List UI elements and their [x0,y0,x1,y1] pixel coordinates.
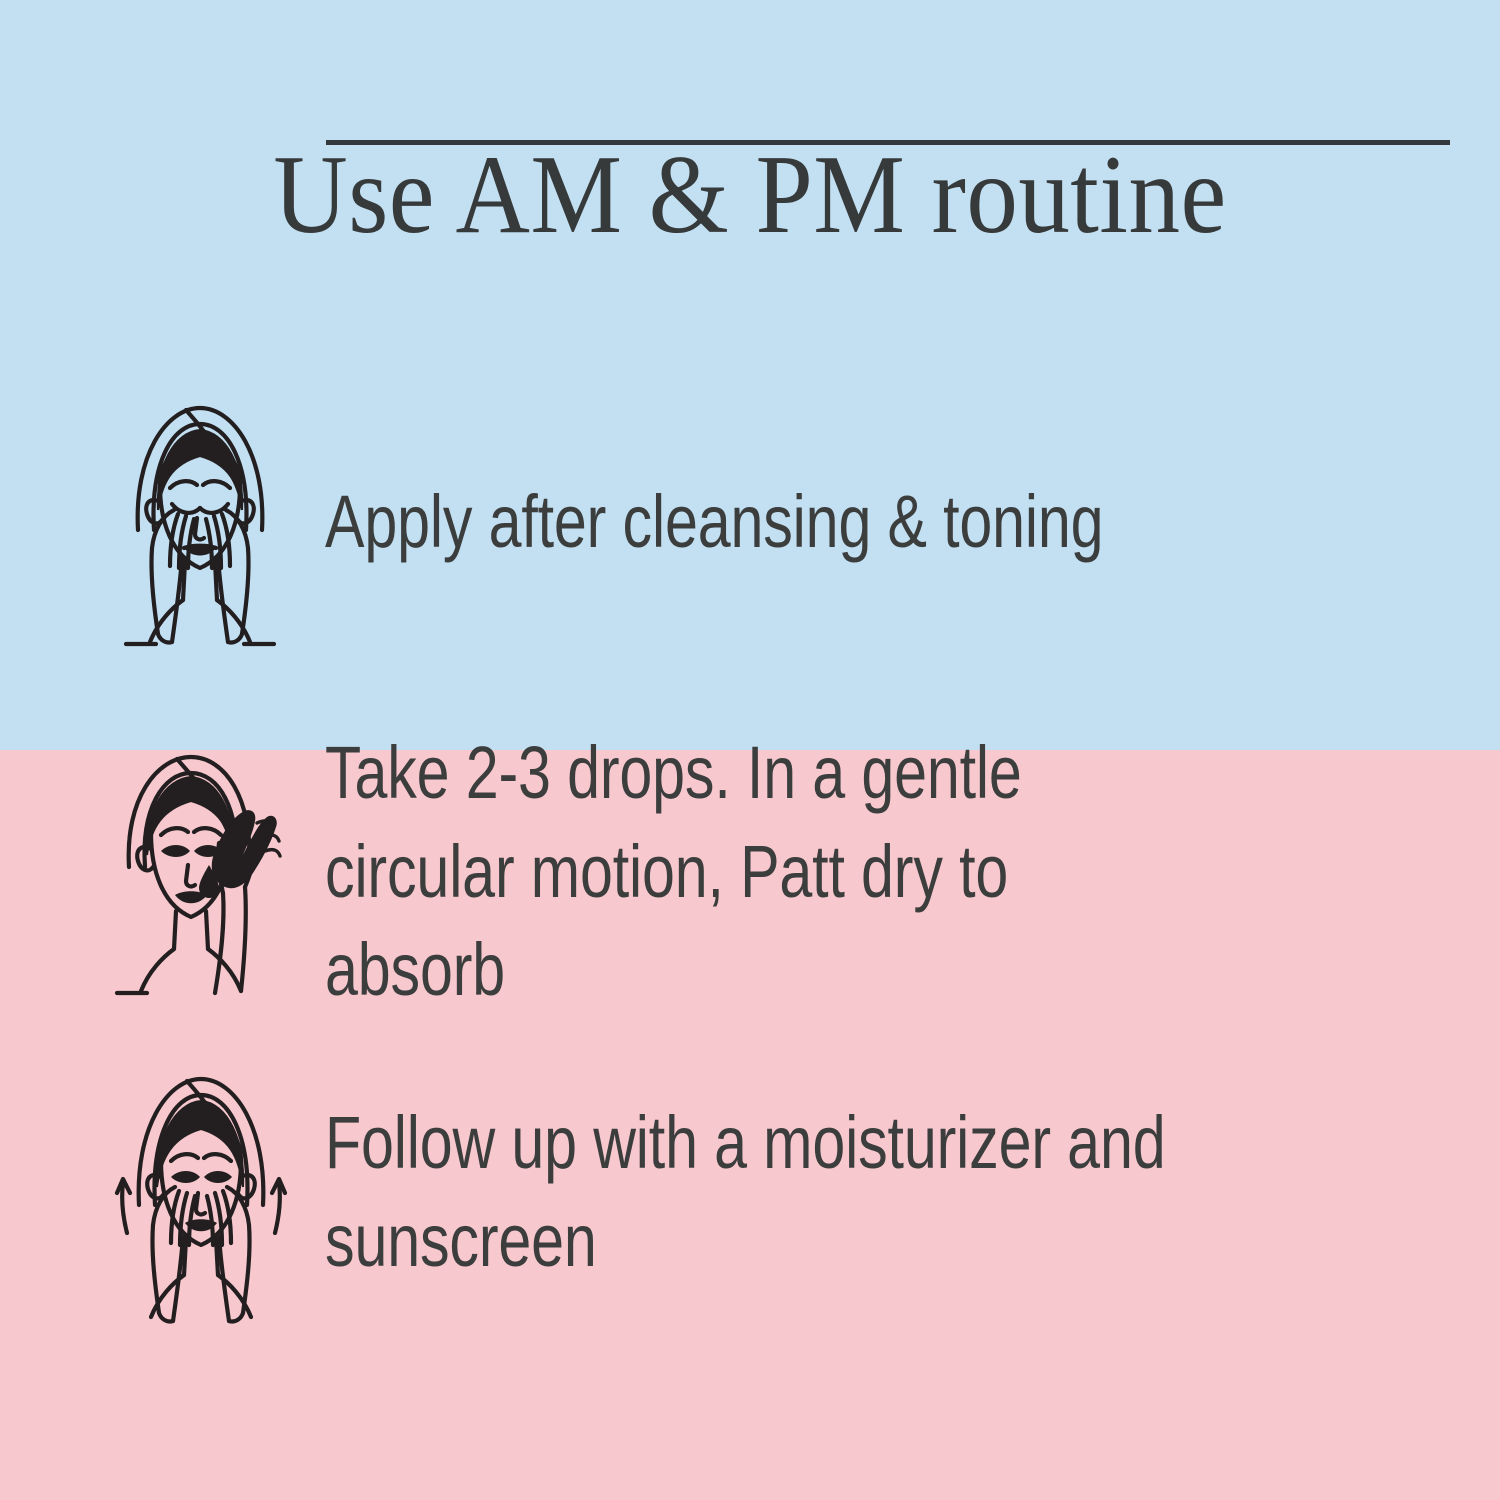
page-title: Use AM & PM routine [60,136,1440,255]
step-row-1: Apply after cleansing & toning [0,372,1500,672]
step-2-text: Take 2-3 drops. In a gentle circular mot… [325,724,1265,1019]
routine-infographic: Use AM & PM routine [0,0,1500,1500]
step-3-text: Follow up with a moisturizer and sunscre… [325,1094,1265,1291]
step-row-2: Take 2-3 drops. In a gentle circular mot… [0,722,1500,1022]
step-1-text: Apply after cleansing & toning [325,473,1265,571]
title-underline-rule [326,140,1450,145]
step-row-3: Follow up with a moisturizer and sunscre… [0,1042,1500,1342]
woman-massaging-cheeks-upward-arrows-icon [75,1057,325,1327]
page-title-block: Use AM & PM routine [0,136,1500,255]
woman-touching-face-both-hands-eyes-closed-icon [75,390,325,655]
woman-applying-serum-drop-to-cheek-icon [75,747,325,997]
